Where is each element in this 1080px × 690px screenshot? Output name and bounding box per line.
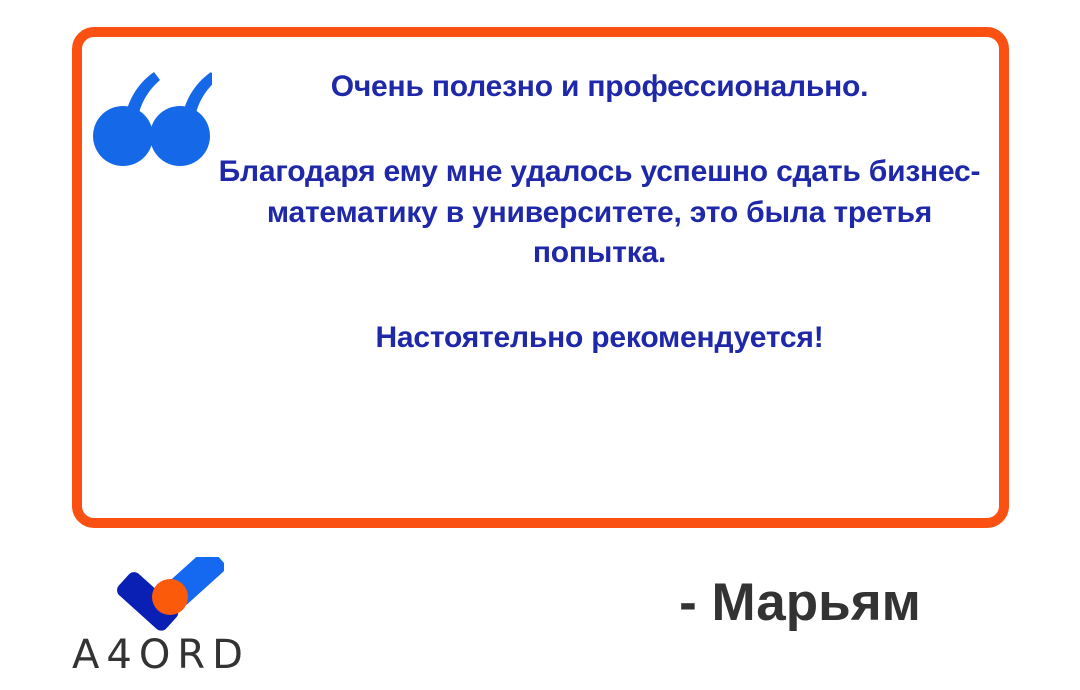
testimonial-card: Очень полезно и профессионально. Благода…: [72, 27, 1009, 528]
testimonial-paragraph-2: Благодаря ему мне удалось успешно сдать …: [210, 152, 989, 274]
testimonial-page: Очень полезно и профессионально. Благода…: [0, 0, 1080, 690]
brand-wordmark: A4ORD: [72, 635, 282, 675]
footer: A4ORD - Марьям: [0, 528, 1080, 690]
a4ord-checkmark-logo-icon: [72, 557, 282, 633]
testimonial-paragraph-1: Очень полезно и профессионально.: [210, 67, 989, 108]
brand-logo[interactable]: A4ORD: [72, 557, 282, 675]
testimonial-author: - Марьям: [600, 576, 1000, 629]
quote-open-icon: [92, 64, 212, 174]
testimonial-text: Очень полезно и профессионально. Благода…: [210, 67, 989, 359]
testimonial-paragraph-3: Настоятельно рекомендуется!: [210, 318, 989, 359]
